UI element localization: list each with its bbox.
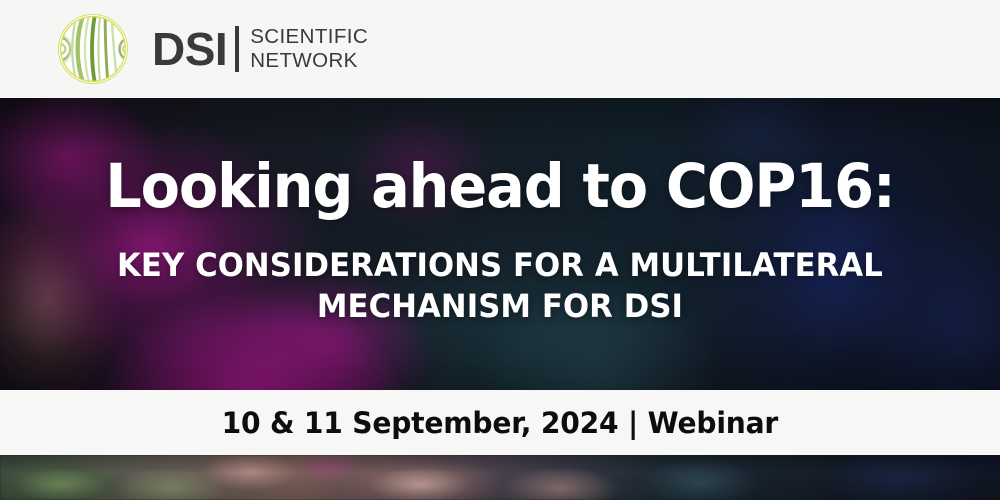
event-subtitle-line1: KEY CONSIDERATIONS FOR A MULTILATERAL — [117, 245, 883, 287]
date-bar: 10 & 11 September, 2024 | Webinar — [0, 390, 1000, 455]
event-date-and-format: 10 & 11 September, 2024 | Webinar — [222, 406, 778, 440]
hero-text-block: Looking ahead to COP16: KEY CONSIDERATIO… — [0, 98, 1000, 390]
brand-lockup: DSI SCIENTIFIC NETWORK — [152, 25, 368, 73]
event-subtitle-line2: MECHANISM FOR DSI — [117, 286, 883, 328]
header-bar: DSI SCIENTIFIC NETWORK — [0, 0, 1000, 98]
brand-tagline: SCIENTIFIC NETWORK — [250, 25, 368, 73]
brand-tagline-line2: NETWORK — [250, 49, 368, 73]
footer-vignette-overlay — [0, 455, 1000, 500]
footer-image-strip — [0, 455, 1000, 500]
brand-tagline-line1: SCIENTIFIC — [250, 25, 368, 49]
brand-name: DSI — [152, 26, 227, 72]
hero-band: Looking ahead to COP16: KEY CONSIDERATIO… — [0, 98, 1000, 390]
brand-divider — [235, 26, 239, 72]
event-subtitle: KEY CONSIDERATIONS FOR A MULTILATERAL ME… — [117, 245, 883, 328]
event-title: Looking ahead to COP16: — [105, 156, 894, 218]
dsi-circle-logo-icon — [58, 14, 128, 84]
event-banner: DSI SCIENTIFIC NETWORK Looking ahead to … — [0, 0, 1000, 500]
